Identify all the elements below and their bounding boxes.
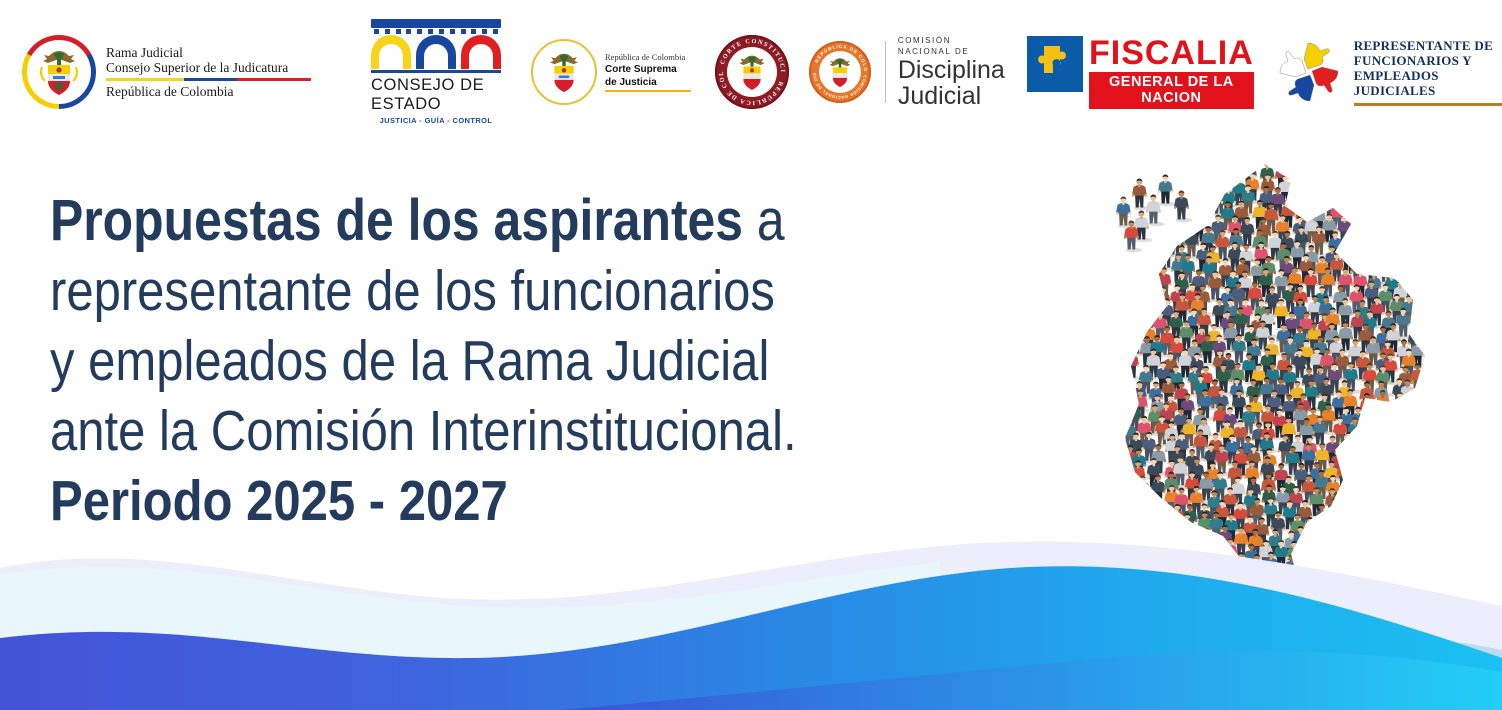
consejo-de-estado-logo: CONSEJO DE ESTADO JUSTICIA - GUÍA - CONT… [371, 19, 501, 125]
decorative-waves [0, 510, 1502, 710]
corte-constitucional-seal: CORTE CONSTITUCIONAL REPÚBLICA DE COLOMB… [715, 35, 789, 109]
disciplina-judicial-line-1: Disciplina [898, 57, 1005, 83]
disciplina-judicial-eyebrow: COMISIÓN NACIONAL DE [898, 35, 1005, 57]
four-hands-icon [1274, 37, 1344, 107]
rama-judicial-logo-text: Rama Judicial Consejo Superior de la Jud… [106, 45, 311, 100]
consejo-estado-subtitle: JUSTICIA - GUÍA - CONTROL [380, 116, 493, 125]
institutional-logo-bar: Rama Judicial Consejo Superior de la Jud… [0, 22, 1502, 122]
fiscalia-puzzle-icon [1027, 36, 1083, 92]
headline-line-2: representante de los funcionarios [50, 256, 953, 326]
corte-suprema-rule [605, 90, 691, 93]
rama-judicial-line-1: Rama Judicial [106, 45, 311, 60]
corte-suprema-logo-text: República de Colombia Corte Suprema de J… [605, 52, 691, 93]
headline-line-4: ante la Comisión Interinstitucional. [50, 396, 953, 466]
consejo-estado-title: CONSEJO DE ESTADO [371, 76, 501, 114]
rama-judicial-line-3: República de Colombia [106, 84, 311, 100]
headline-line-1: Propuestas de los aspirantes a [50, 186, 953, 256]
fiscalia-subtitle-bar: GENERAL DE LA NACION [1089, 72, 1254, 109]
svg-text:COMISIÓN NACIONAL DE DISCIPLIN: COMISIÓN NACIONAL DE DISCIPLINA JUDICIAL [809, 41, 868, 100]
logo-divider [885, 41, 886, 103]
comision-nacional-disciplina-judicial-logo: REPÚBLICA DE COLOMBIA COMISIÓN NACIONAL … [809, 35, 1005, 109]
rama-judicial-line-2: Consejo Superior de la Judicatura [106, 60, 311, 75]
representante-line-3: EMPLEADOS JUDICIALES [1354, 68, 1502, 98]
fiscalia-wordmark: FISCALIA GENERAL DE LA NACION [1089, 36, 1254, 109]
representante-line-1: REPRESENTANTE DE [1354, 38, 1502, 53]
corte-constitucional-seal-icon: CORTE CONSTITUCIONAL REPÚBLICA DE COLOMB… [715, 35, 789, 109]
disciplina-judicial-seal-icon: REPÚBLICA DE COLOMBIA COMISIÓN NACIONAL … [809, 41, 871, 103]
representante-funcionarios-empleados-judiciales-logo: REPRESENTANTE DE FUNCIONARIOS Y EMPLEADO… [1274, 37, 1502, 107]
fiscalia-word: FISCALIA [1089, 36, 1254, 70]
corte-suprema-seal-icon [531, 39, 597, 105]
corte-suprema-line-1: República de Colombia [605, 52, 691, 63]
page-title: Propuestas de los aspirantes a represent… [50, 186, 1100, 536]
svg-text:REPÚBLICA DE COLOMBIA: REPÚBLICA DE COLOMBIA [809, 41, 868, 72]
banner: Rama Judicial Consejo Superior de la Jud… [0, 0, 1502, 710]
headline-line-1-bold: Propuestas de los aspirantes [50, 188, 743, 253]
disciplina-judicial-text: COMISIÓN NACIONAL DE Disciplina Judicial [898, 35, 1005, 109]
corte-suprema-line-2: Corte Suprema de Justicia [605, 63, 691, 89]
fiscalia-general-de-la-nacion-logo: FISCALIA GENERAL DE LA NACION [1027, 36, 1254, 109]
headline-line-3: y empleados de la Rama Judicial [50, 326, 953, 396]
tricolor-rule [106, 78, 311, 81]
representante-rule [1354, 103, 1502, 106]
rama-judicial-logo: Rama Judicial Consejo Superior de la Jud… [22, 35, 311, 109]
consejo-estado-building-icon [371, 19, 501, 73]
corte-suprema-de-justicia-logo: República de Colombia Corte Suprema de J… [531, 39, 691, 105]
disciplina-judicial-line-2: Judicial [898, 83, 1005, 109]
colombia-coat-of-arms-icon [22, 35, 96, 109]
headline-line-1-rest: a [743, 188, 785, 253]
representante-line-2: FUNCIONARIOS Y [1354, 53, 1502, 68]
representante-text: REPRESENTANTE DE FUNCIONARIOS Y EMPLEADO… [1354, 38, 1502, 106]
